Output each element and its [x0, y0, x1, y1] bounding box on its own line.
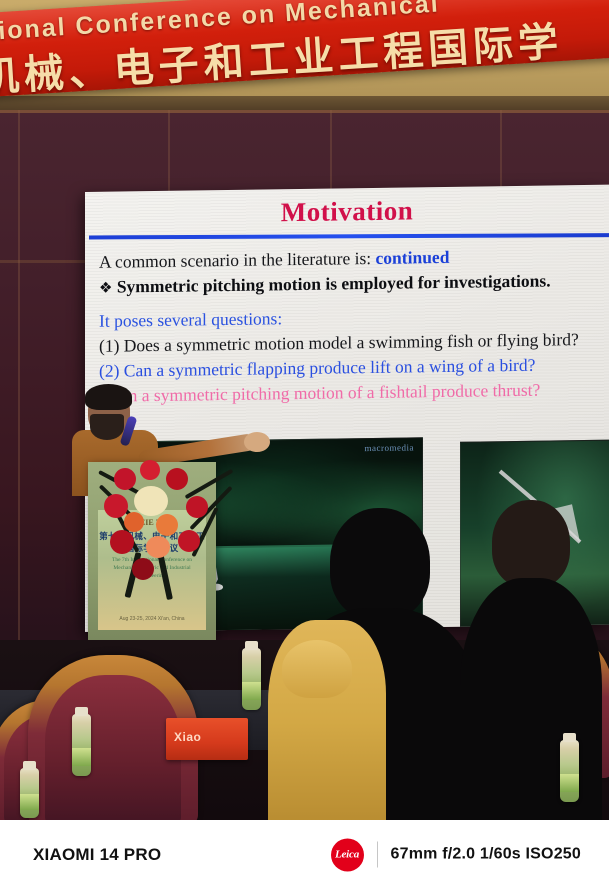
slide-title: Motivation [85, 193, 609, 231]
bottle-cap [563, 733, 576, 742]
bottle-cap [75, 707, 88, 716]
xiaomi-box-label: Xiao [174, 730, 201, 744]
diamond-bullet-icon: ❖ [99, 279, 112, 297]
bullet-text: Symmetric pitching motion is employed fo… [117, 270, 551, 296]
camera-exif-group: Leica 67mm f/2.0 1/60s ISO250 [331, 838, 582, 871]
camera-info-bar: XIAOMI 14 PRO Leica 67mm f/2.0 1/60s ISO… [0, 820, 609, 889]
bottle-cap [23, 761, 36, 770]
audience-person-head [492, 500, 570, 588]
macromedia-watermark: macromedia [365, 442, 414, 453]
audience-person-head [330, 508, 430, 620]
flower-bloom [114, 468, 136, 490]
device-model-label: XIAOMI 14 PRO [33, 845, 161, 865]
photograph: rnational Conference on Mechanical 届机械、电… [0, 0, 609, 820]
slide-title-underline [89, 233, 609, 239]
flower-bloom [156, 514, 178, 536]
photo-screenshot: rnational Conference on Mechanical 届机械、电… [0, 0, 609, 889]
poster-line-5: Aug 23-25, 2024 Xi'an, China [98, 616, 206, 622]
flower-bloom [166, 468, 188, 490]
bottle-label [242, 682, 261, 700]
presenter-hand [244, 432, 270, 452]
intro-prefix-text: A common scenario in the literature is: [99, 248, 371, 272]
intro-accent-text: continued [376, 247, 450, 268]
flower-bloom [104, 494, 128, 518]
wall-seam [18, 110, 20, 670]
bottle-label [20, 794, 39, 810]
leaf [157, 552, 173, 600]
exif-settings-label: 67mm f/2.0 1/60s ISO250 [391, 846, 582, 864]
flower-bloom [186, 496, 208, 518]
audience-person-body [460, 578, 602, 820]
bottle-cap [245, 641, 258, 650]
flower-arrangement [90, 452, 240, 602]
xiaomi-product-box: Xiao [166, 718, 248, 760]
water-bottle [560, 740, 579, 802]
audience-yellow-hood [282, 640, 352, 698]
bottle-label [72, 748, 91, 766]
leica-logo-text: Leica [335, 849, 359, 861]
wall-trim-top [0, 110, 609, 113]
presenter-beard [90, 414, 124, 440]
presenter-hair [85, 384, 132, 410]
chair-back [45, 675, 181, 820]
lily-bloom [134, 486, 168, 516]
flower-bloom [146, 536, 170, 558]
leica-logo-icon: Leica [331, 838, 364, 871]
bottle-label [560, 774, 579, 792]
flower-bloom [178, 530, 200, 552]
water-bottle [242, 648, 261, 710]
footer-divider [377, 842, 378, 868]
water-bottle [72, 714, 91, 776]
flower-bloom [124, 512, 144, 532]
flower-bloom [140, 460, 160, 480]
slide-body: A common scenario in the literature is: … [99, 243, 605, 409]
flower-bloom [110, 530, 134, 554]
flower-bloom [132, 558, 154, 580]
water-bottle [20, 768, 39, 818]
